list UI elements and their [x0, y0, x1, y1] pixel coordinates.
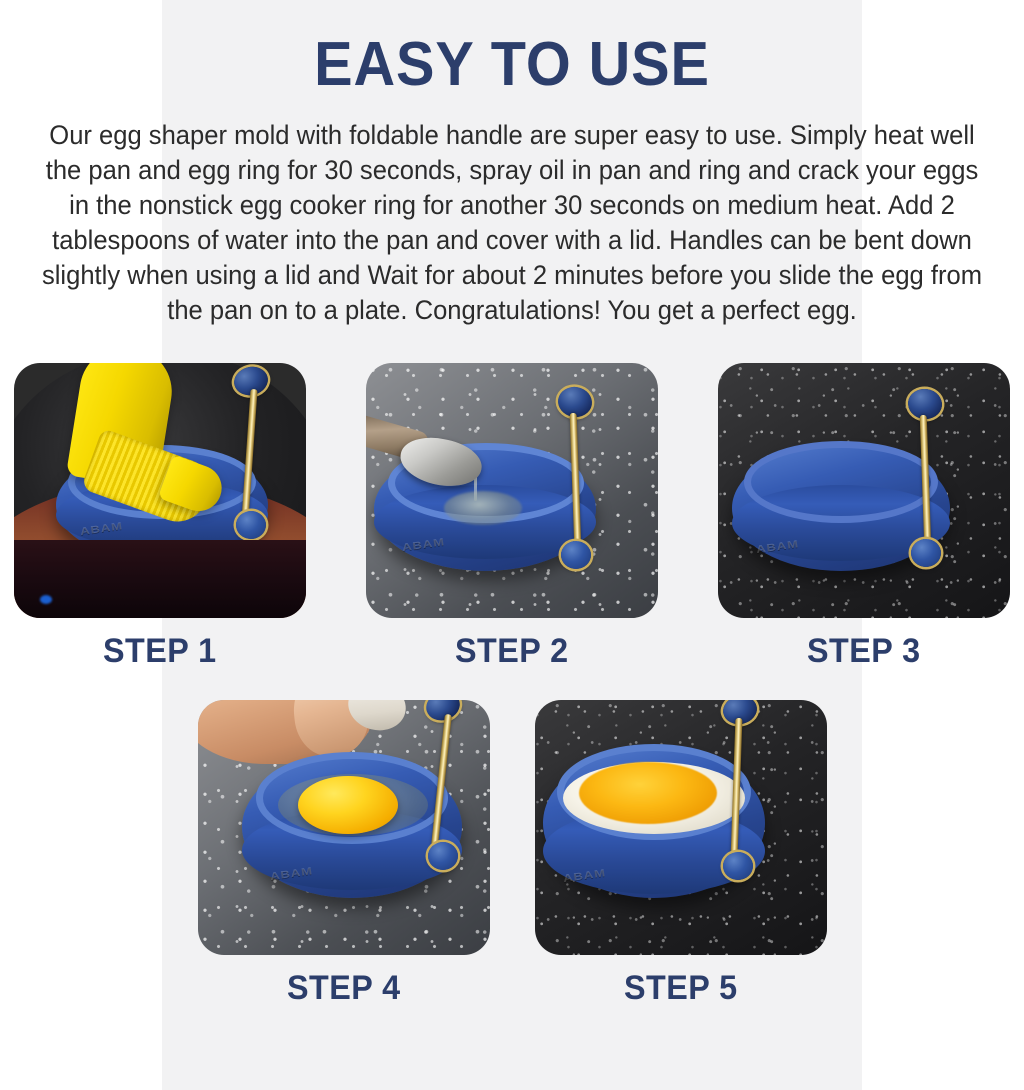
stovetop-surface — [14, 540, 306, 618]
handle-pivot-icon — [428, 842, 458, 870]
scene-spoon-pouring-oil: ABAM — [366, 363, 658, 618]
handle-pivot-icon — [723, 852, 753, 880]
step-card-3: ABAM STEP 3 — [718, 363, 1010, 671]
step-card-4: ABAM STEP 4 — [198, 700, 490, 1008]
scene-cooked-egg: ABAM — [535, 700, 827, 955]
handle-pivot-icon — [911, 539, 941, 567]
page-title: EASY TO USE — [36, 0, 988, 96]
step-4-photo: ABAM — [198, 700, 490, 955]
step-2-label: STEP 2 — [455, 632, 569, 671]
steps-row-top: ABAM STEP 1 — [0, 363, 1024, 671]
scene-brush-oiling-ring: ABAM — [14, 363, 306, 618]
handle-pivot-icon — [236, 511, 266, 539]
handle-knob-icon — [422, 700, 463, 725]
step-card-2: ABAM STEP 2 — [366, 363, 658, 671]
egg-yolk-icon — [298, 776, 398, 834]
step-5-photo: ABAM — [535, 700, 827, 955]
handle-pivot-icon — [561, 541, 591, 569]
step-2-photo: ABAM — [366, 363, 658, 618]
oil-puddle — [444, 491, 522, 525]
step-5-label: STEP 5 — [624, 969, 738, 1008]
step-3-label: STEP 3 — [807, 632, 921, 671]
step-card-1: ABAM STEP 1 — [14, 363, 306, 671]
step-card-5: ABAM STEP 5 — [535, 700, 827, 1008]
infographic-page: EASY TO USE Our egg shaper mold with fol… — [0, 0, 1024, 1090]
scene-empty-oiled-ring: ABAM — [718, 363, 1010, 618]
egg-ring-lip — [744, 441, 938, 523]
step-3-photo: ABAM — [718, 363, 1010, 618]
step-4-label: STEP 4 — [287, 969, 401, 1008]
step-1-label: STEP 1 — [103, 632, 217, 671]
stove-flame-dot — [40, 595, 52, 604]
egg-yolk-icon — [579, 762, 717, 824]
scene-cracking-egg: ABAM — [198, 700, 490, 955]
steps-row-bottom: ABAM STEP 4 ABAM — [0, 700, 1024, 1008]
page-description: Our egg shaper mold with foldable handle… — [18, 96, 1006, 328]
step-1-photo: ABAM — [14, 363, 306, 618]
